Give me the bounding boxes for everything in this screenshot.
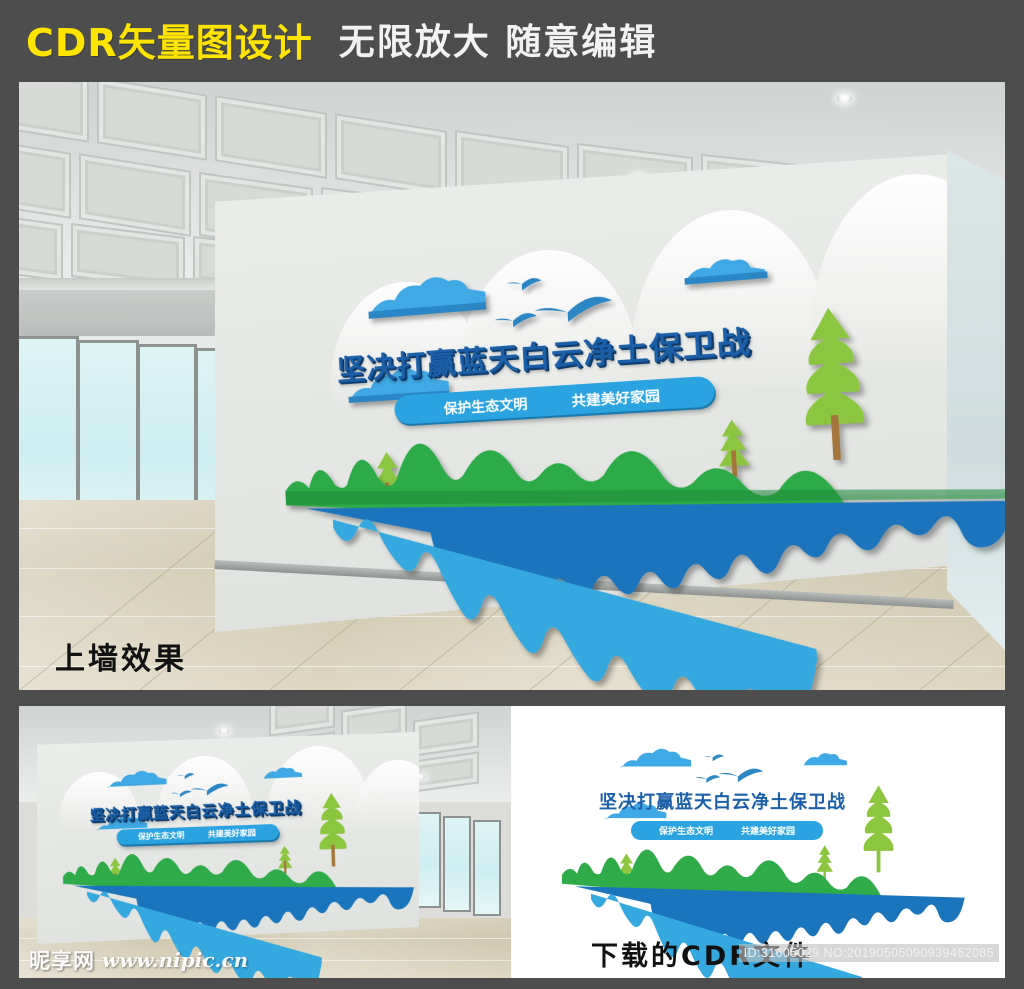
subtitle-right: 共建美好家园 (208, 827, 256, 840)
cloud-icon (107, 770, 167, 788)
subtitle-gap (527, 400, 571, 403)
bird-icon (170, 771, 229, 797)
subtitle-left: 保护生态文明 (443, 392, 528, 417)
bird-icon (506, 277, 542, 292)
bottom-right-caption: 下载的CDR文件 (591, 934, 813, 973)
downlight (219, 728, 229, 734)
tree-icon (864, 785, 894, 872)
subtitle-right: 共建美好家园 (741, 824, 795, 837)
downlight (837, 94, 852, 103)
tree-icon (318, 792, 348, 866)
artwork-title-flat: 坚决打赢蓝天白云净土保卫战 (599, 788, 846, 814)
window-header-beam (19, 290, 237, 336)
window-wall (409, 798, 511, 938)
bottom-left-preview-panel[interactable]: 坚决打赢蓝天白云净土保卫战 保护生态文明 共建美好家园 昵享网 www.nipi… (19, 706, 511, 978)
window-pane (473, 820, 501, 916)
subtitle-right: 共建美好家园 (571, 384, 661, 410)
bird-icon (534, 296, 613, 325)
bird-icon (696, 754, 764, 782)
tree-icon (799, 306, 866, 462)
cloud-icon (804, 753, 847, 765)
subtitle-gap (185, 834, 208, 835)
cloud-icon (684, 256, 768, 285)
window-pane (443, 816, 471, 912)
artwork-svg-small (52, 750, 421, 936)
bottom-right-preview-panel[interactable]: 坚决打赢蓝天白云净土保卫战 保护生态文明 共建美好家园 下载的CDR文件 ID:… (511, 706, 1005, 978)
artwork-svg-flat (553, 740, 971, 948)
cloud-icon (620, 749, 691, 768)
artwork-subtitle-banner-flat: 保护生态文明 共建美好家园 (631, 821, 823, 840)
wall-artwork: 坚决打赢蓝天白云净土保卫战 保护生态文明 共建美好家园 (260, 211, 1005, 609)
bird-icon (494, 312, 537, 328)
header-subtitle-white: 无限放大 随意编辑 (339, 13, 658, 65)
header-banner: CDR矢量图设计 无限放大 随意编辑 (0, 0, 1024, 78)
room-scene-small: 坚决打赢蓝天白云净土保卫战 保护生态文明 共建美好家园 (19, 706, 511, 978)
room-scene: 坚决打赢蓝天白云净土保卫战 保护生态文明 共建美好家园 上墙效果 (19, 82, 1005, 690)
page-root: CDR矢量图设计 无限放大 随意编辑 (0, 0, 1024, 989)
subtitle-left: 保护生态文明 (659, 824, 713, 837)
cloud-icon (367, 273, 486, 319)
tree-icon (716, 419, 750, 478)
subtitle-left: 保护生态文明 (138, 829, 185, 842)
main-panel-caption: 上墙效果 (55, 634, 187, 678)
header-title-yellow: CDR矢量图设计 (26, 12, 313, 67)
tree-icon (277, 846, 293, 874)
wall-artwork-small: 坚决打赢蓝天白云净土保卫战 保护生态文明 共建美好家园 (52, 750, 421, 936)
main-preview-panel[interactable]: 坚决打赢蓝天白云净土保卫战 保护生态文明 共建美好家园 上墙效果 (19, 82, 1005, 690)
cloud-icon (264, 767, 303, 779)
flat-artwork: 坚决打赢蓝天白云净土保卫战 保护生态文明 共建美好家园 (553, 740, 971, 948)
